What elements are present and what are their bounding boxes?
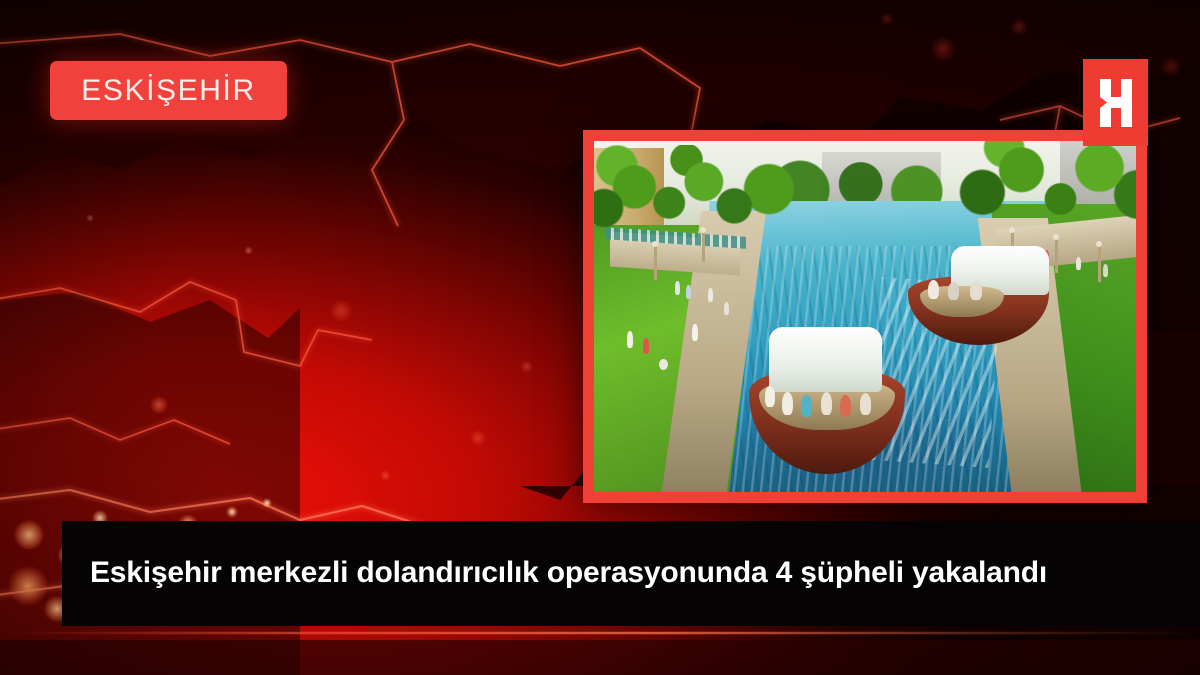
photo-person — [627, 331, 633, 348]
headline-text: Eskişehir merkezli dolandırıcılık operas… — [62, 555, 1047, 592]
photo-lamp-post — [654, 246, 657, 280]
photo-boat-rear — [908, 246, 1049, 344]
article-photo — [594, 141, 1136, 492]
headline-bar: Eskişehir merkezli dolandırıcılık operas… — [62, 521, 1200, 626]
city-badge: ESKİŞEHİR — [50, 61, 287, 120]
article-photo-frame — [583, 130, 1147, 503]
city-badge-label: ESKİŞEHİR — [81, 76, 255, 106]
photo-boat-front — [746, 327, 909, 474]
photo-person — [686, 285, 691, 299]
photo-person — [675, 281, 680, 295]
photo-person — [643, 338, 649, 354]
photo-lamp-post — [1055, 239, 1058, 273]
photo-trees-left — [594, 145, 795, 250]
photo-trees-right — [952, 141, 1136, 246]
site-logo[interactable] — [1083, 59, 1148, 146]
photo-person — [724, 302, 729, 315]
photo-lamp-post — [702, 232, 705, 262]
photo-person — [692, 324, 698, 341]
photo-person — [1076, 257, 1081, 270]
haberler-h-logo-icon — [1094, 76, 1138, 130]
photo-person — [708, 288, 713, 302]
photo-lamp-post — [1098, 246, 1101, 282]
photo-person-sitting — [659, 359, 668, 370]
news-card: ESKİŞEHİR — [0, 0, 1200, 675]
